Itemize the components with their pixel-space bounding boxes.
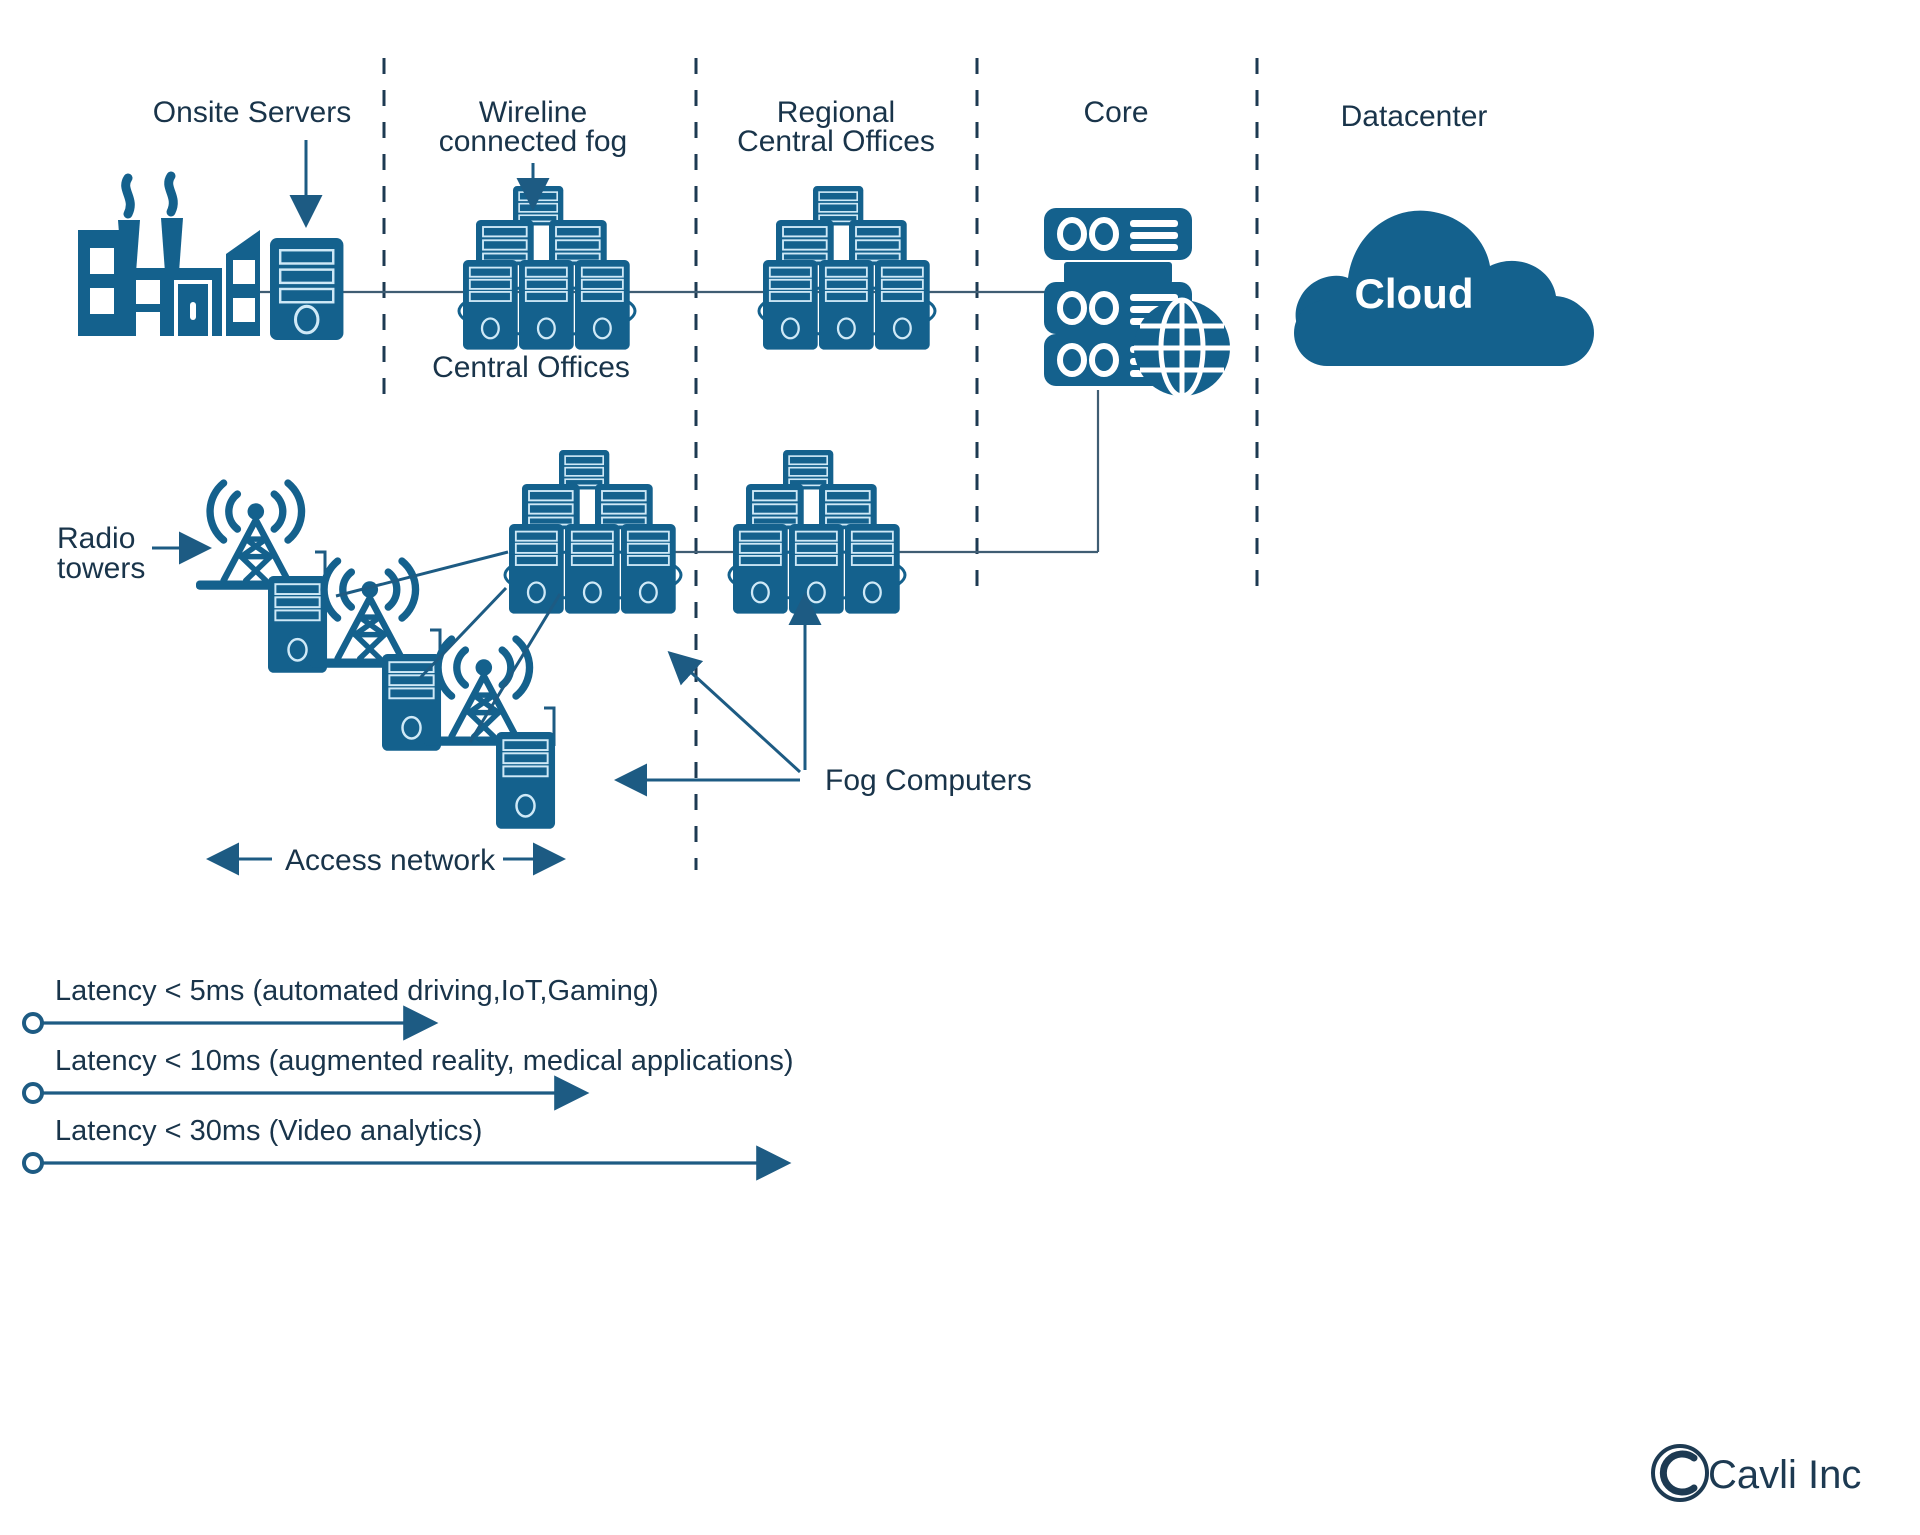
fog-to-tower3-link: [420, 588, 506, 678]
pc1-to-fog-link: [336, 552, 508, 596]
cavli-logo-mark: [1653, 1446, 1707, 1500]
latency-origin-dot-2: [24, 1084, 42, 1102]
column-label-core: Core: [1083, 96, 1148, 129]
latency-label-3: Latency < 30ms (Video analytics): [55, 1115, 482, 1147]
radio-towers-label-line2: towers: [57, 552, 145, 585]
column-label-wireline-fog-line2: connected fog: [439, 125, 627, 158]
latency-origin-dot-3: [24, 1154, 42, 1172]
radio-tower-1: [196, 483, 316, 590]
access-network-label: Access network: [285, 844, 496, 877]
wireline-fog-server-pyramid: [459, 186, 635, 350]
sublabel-central-offices: Central Offices: [432, 351, 630, 384]
regional-server-pyramid: [759, 186, 935, 350]
factory-icon: [78, 176, 260, 336]
fog-pc-3: [496, 732, 555, 829]
cloud-label: Cloud: [1355, 270, 1474, 317]
latency-label-1: Latency < 5ms (automated driving,IoT,Gam…: [55, 975, 659, 1007]
globe-icon: [1134, 300, 1230, 396]
fog-pc-2: [382, 654, 441, 751]
regional-fog-server-pyramid: [729, 450, 905, 614]
latency-label-2: Latency < 10ms (augmented reality, medic…: [55, 1045, 794, 1077]
arrow-fog-computers-diagonal: [672, 655, 800, 772]
radio-towers-label-line1: Radio: [57, 522, 135, 555]
column-label-datacenter: Datacenter: [1341, 100, 1488, 133]
fog-pc-1: [268, 576, 327, 673]
diagram-canvas: Onsite Servers Wireline connected fog Re…: [0, 0, 1920, 1535]
onsite-server-icon: [270, 238, 343, 340]
column-label-onsite-servers: Onsite Servers: [153, 96, 351, 129]
cavli-logo-text: Cavli Inc: [1708, 1453, 1861, 1497]
fog-computers-label: Fog Computers: [825, 764, 1032, 797]
latency-origin-dot-1: [24, 1014, 42, 1032]
access-fog-server-pyramid: [505, 450, 681, 614]
column-label-regional-line2: Central Offices: [737, 125, 935, 158]
